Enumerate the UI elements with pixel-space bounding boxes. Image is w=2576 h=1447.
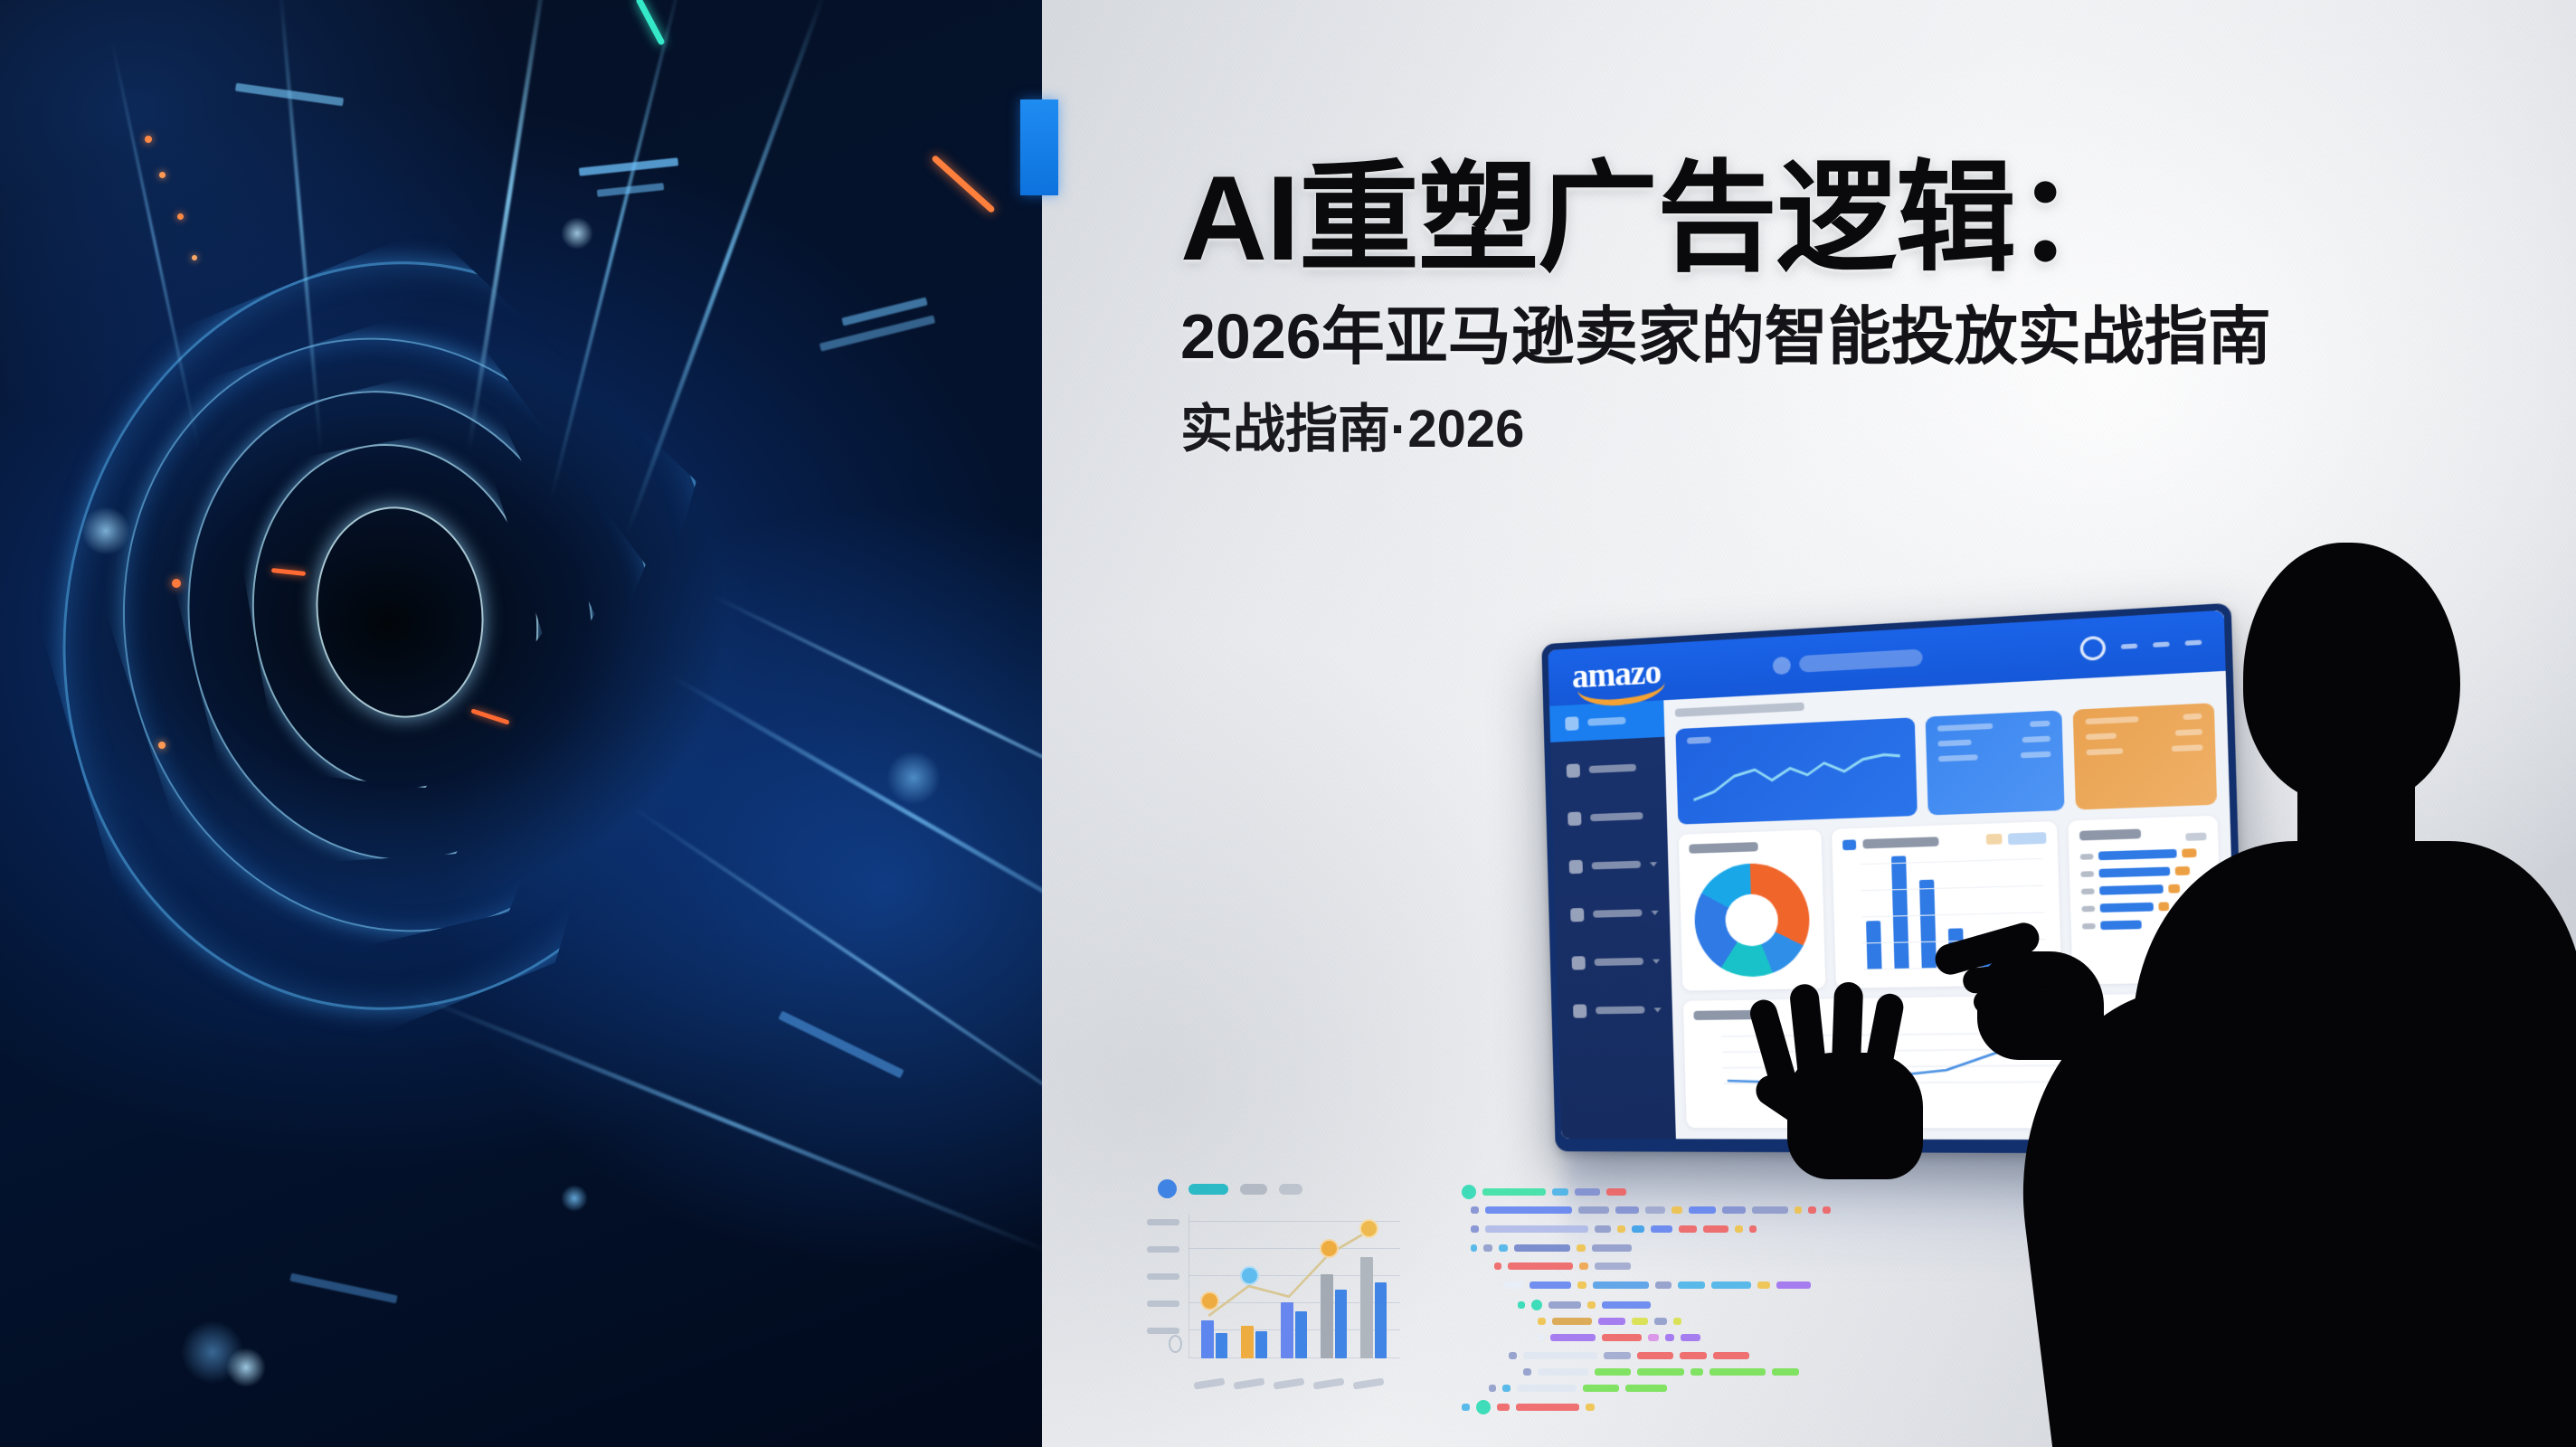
accent-bar	[1020, 99, 1058, 195]
legend-item	[1240, 1184, 1267, 1195]
dashboard-icon	[1565, 716, 1578, 731]
search-input[interactable]	[1772, 648, 1922, 675]
chevron-down-icon	[1650, 862, 1657, 866]
accent-spark-orange	[145, 136, 152, 143]
filter-chip[interactable]	[1986, 834, 2003, 845]
bottom-combo-chart	[1138, 1176, 1409, 1402]
dashboard-sidebar[interactable]	[1548, 643, 1676, 1139]
kpi-card-stats-blue[interactable]	[1926, 710, 2065, 815]
legend-dot	[1158, 1179, 1177, 1198]
data-point	[1320, 1239, 1339, 1258]
donut-chart	[1693, 862, 1811, 978]
sidebar-item-automation[interactable]	[1556, 942, 1672, 981]
chevron-down-icon	[1653, 959, 1660, 963]
silhouette-torso	[2133, 841, 2576, 1447]
poster-canvas: AI重塑广告逻辑： 2026年亚马逊卖家的智能投放实战指南 实战指南·2026 …	[0, 0, 2576, 1447]
combo-plot-area	[1189, 1214, 1400, 1358]
light-streak	[669, 674, 1042, 958]
panel-title	[1689, 842, 1758, 854]
search-icon	[1772, 656, 1790, 675]
legend-item	[1279, 1184, 1302, 1195]
presenter-silhouette	[2107, 543, 2576, 1447]
sidebar-item-keywords[interactable]	[1553, 845, 1668, 884]
glow-bokeh	[561, 217, 593, 250]
sidebar-item-label	[1587, 717, 1625, 726]
sidebar-item-campaigns[interactable]	[1551, 748, 1666, 790]
sidebar-item-label	[1596, 1007, 1644, 1015]
legend-item	[1189, 1184, 1228, 1195]
accent-spark-orange	[172, 579, 181, 588]
sidebar-item-label	[1595, 958, 1643, 966]
bar	[1866, 921, 1882, 969]
panel-title	[1863, 837, 1939, 848]
page-subtitle: 2026年亚马逊卖家的智能投放实战指南	[1180, 301, 2555, 372]
automation-icon	[1572, 956, 1586, 969]
sidebar-item-dashboard[interactable]	[1549, 700, 1664, 742]
accent-spark-orange	[159, 172, 166, 178]
accent-spark-teal	[635, 0, 665, 46]
breadcrumb[interactable]	[1675, 702, 1804, 716]
keyword-icon	[1569, 859, 1583, 874]
page-title: AI重塑广告逻辑：	[1180, 158, 2555, 281]
data-block	[289, 1273, 397, 1304]
sidebar-item-settings[interactable]	[1558, 991, 1673, 1029]
glow-bokeh	[561, 1185, 588, 1212]
bar	[1891, 856, 1909, 969]
headline-block: AI重塑广告逻辑： 2026年亚马逊卖家的智能投放实战指南 实战指南·2026	[1180, 158, 2555, 459]
kpi-card-trend[interactable]	[1675, 717, 1918, 824]
axis-zero-label	[1169, 1335, 1182, 1353]
sidebar-item-products[interactable]	[1555, 894, 1671, 933]
sidebar-item-label	[1589, 764, 1636, 773]
data-block	[819, 315, 935, 351]
glow-bokeh	[81, 506, 130, 555]
amazon-logo[interactable]: amazo	[1571, 652, 1661, 696]
accent-spark-orange	[158, 742, 166, 749]
accent-spark-orange	[177, 213, 184, 220]
light-streak	[413, 993, 1042, 1254]
sidebar-item-reports[interactable]	[1552, 797, 1667, 837]
glow-bokeh	[886, 751, 941, 805]
legend-swatch	[1842, 839, 1856, 850]
abstract-digital-vortex-image	[0, 0, 1042, 1447]
kpi-trend-line-chart	[1687, 742, 1905, 809]
report-icon	[1567, 811, 1581, 826]
data-point	[1200, 1291, 1219, 1310]
chevron-down-icon	[1651, 910, 1658, 914]
sidebar-item-label	[1593, 909, 1642, 917]
donut-chart-panel[interactable]	[1679, 829, 1826, 990]
data-block	[778, 1011, 904, 1079]
accent-spark-orange	[931, 155, 996, 213]
light-streak	[712, 594, 1042, 819]
campaign-icon	[1567, 763, 1580, 778]
gear-icon	[1573, 1004, 1586, 1017]
data-point	[1359, 1219, 1378, 1238]
glow-bokeh	[226, 1348, 266, 1387]
sidebar-item-label	[1592, 861, 1641, 870]
syntax-highlighted-code	[1458, 1176, 1892, 1402]
search-placeholder	[1799, 648, 1923, 672]
sidebar-item-label	[1590, 812, 1643, 821]
data-block	[579, 157, 678, 175]
chevron-down-icon	[1653, 1007, 1661, 1012]
page-tagline: 实战指南·2026	[1180, 401, 2555, 459]
chart-legend	[1158, 1179, 1302, 1198]
open-hand-silhouette	[1746, 977, 1972, 1185]
data-point	[1240, 1266, 1259, 1285]
accent-spark-orange	[192, 255, 197, 260]
date-range-chip[interactable]	[2008, 832, 2047, 845]
gear-icon[interactable]	[2079, 635, 2106, 660]
product-icon	[1570, 907, 1584, 921]
